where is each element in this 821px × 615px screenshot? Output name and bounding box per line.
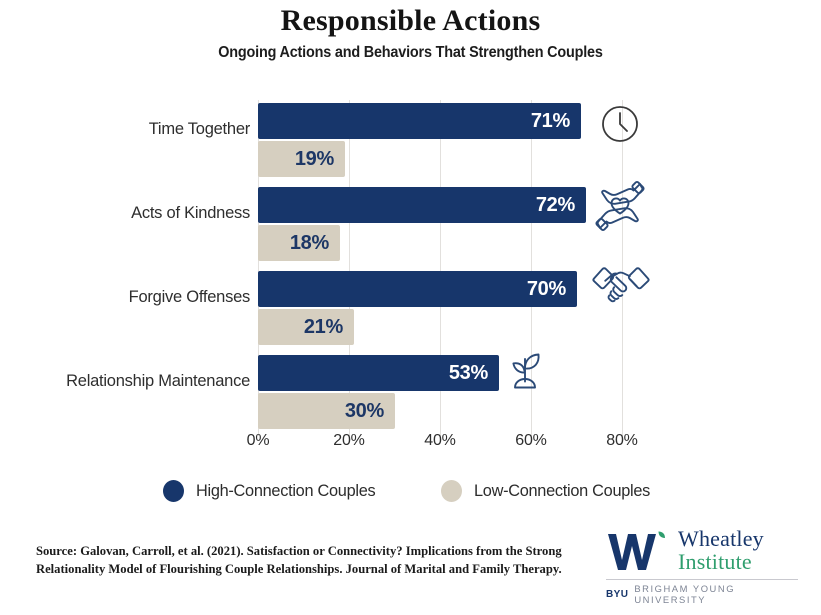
x-tick-80: 80% — [606, 432, 637, 450]
bar-low-acts-of-kindness[interactable]: 18% — [258, 225, 340, 261]
category-axis: Time Together Acts of Kindness Forgive O… — [8, 100, 250, 436]
wheatley-wordmark: Wheatley Institute — [678, 528, 764, 573]
chart-legend: High-Connection Couples Low-Connection C… — [0, 480, 821, 502]
legend-item-low-connection-couples[interactable]: Low-Connection Couples — [441, 480, 657, 502]
source-line-1: Source: Galovan, Carroll, et al. (2021).… — [36, 542, 581, 560]
bar-value-low-acts-of-kindness: 18% — [290, 232, 340, 255]
x-tick-0: 0% — [247, 432, 270, 450]
bar-value-high-acts-of-kindness: 72% — [536, 194, 586, 217]
bar-value-low-relationship-maintenance: 30% — [345, 400, 395, 423]
bar-group-time-together: 71% 19% — [258, 103, 628, 179]
category-label-forgive-offenses: Forgive Offenses — [20, 288, 250, 307]
x-axis: 0% 20% 40% 60% 80% — [258, 432, 638, 456]
chart-page: Responsible Actions Ongoing Actions and … — [0, 0, 821, 615]
category-label-time-together: Time Together — [20, 120, 250, 139]
bar-value-low-time-together: 19% — [295, 148, 345, 171]
bar-group-forgive-offenses: 70% 21% — [258, 271, 628, 347]
logo-word-wheatley: Wheatley — [678, 528, 764, 550]
source-citation: Source: Galovan, Carroll, et al. (2021).… — [36, 542, 581, 578]
byu-attribution: BYU BRIGHAM YOUNG UNIVERSITY — [606, 583, 798, 605]
bar-value-low-forgive-offenses: 21% — [304, 316, 354, 339]
category-label-acts-of-kindness: Acts of Kindness — [20, 204, 250, 223]
bar-value-high-forgive-offenses: 70% — [527, 278, 577, 301]
wheatley-institute-logo: Wheatley Institute BYU BRIGHAM YOUNG UNI… — [606, 528, 798, 590]
chart-subtitle: Ongoing Actions and Behaviors That Stren… — [29, 44, 793, 62]
legend-label-high: High-Connection Couples — [196, 481, 375, 501]
bar-high-time-together[interactable]: 71% — [258, 103, 581, 139]
legend-swatch-high — [163, 480, 184, 502]
legend-label-low: Low-Connection Couples — [474, 481, 650, 501]
bar-group-relationship-maintenance: 53% 30% — [258, 355, 628, 431]
x-tick-20: 20% — [333, 432, 364, 450]
logo-divider — [606, 579, 798, 580]
sprout-icon — [502, 348, 548, 399]
x-tick-40: 40% — [424, 432, 455, 450]
legend-item-high-connection-couples[interactable]: High-Connection Couples — [163, 480, 383, 502]
bar-high-forgive-offenses[interactable]: 70% — [258, 271, 577, 307]
byu-abbreviation: BYU — [606, 589, 628, 600]
logo-word-institute: Institute — [678, 550, 764, 573]
x-tick-60: 60% — [515, 432, 546, 450]
bar-low-forgive-offenses[interactable]: 21% — [258, 309, 354, 345]
source-line-2: Relationality Model of Flourishing Coupl… — [36, 560, 581, 578]
clock-icon — [598, 102, 642, 151]
hands-heart-icon — [592, 178, 648, 239]
plot-area: 71% 19% 72% 18% 70% 21% — [258, 100, 628, 436]
byu-full-name: BRIGHAM YOUNG UNIVERSITY — [634, 583, 798, 605]
bar-low-relationship-maintenance[interactable]: 30% — [258, 393, 395, 429]
bar-group-acts-of-kindness: 72% 18% — [258, 187, 628, 263]
bar-value-high-time-together: 71% — [531, 110, 581, 133]
bar-value-high-relationship-maintenance: 53% — [449, 362, 499, 385]
bar-low-time-together[interactable]: 19% — [258, 141, 345, 177]
bar-high-acts-of-kindness[interactable]: 72% — [258, 187, 586, 223]
bar-high-relationship-maintenance[interactable]: 53% — [258, 355, 499, 391]
category-label-relationship-maintenance: Relationship Maintenance — [20, 372, 250, 391]
handshake-icon — [590, 260, 652, 315]
legend-swatch-low — [441, 480, 462, 502]
page-title: Responsible Actions — [0, 4, 821, 38]
wheatley-w-mark-icon — [606, 530, 670, 577]
